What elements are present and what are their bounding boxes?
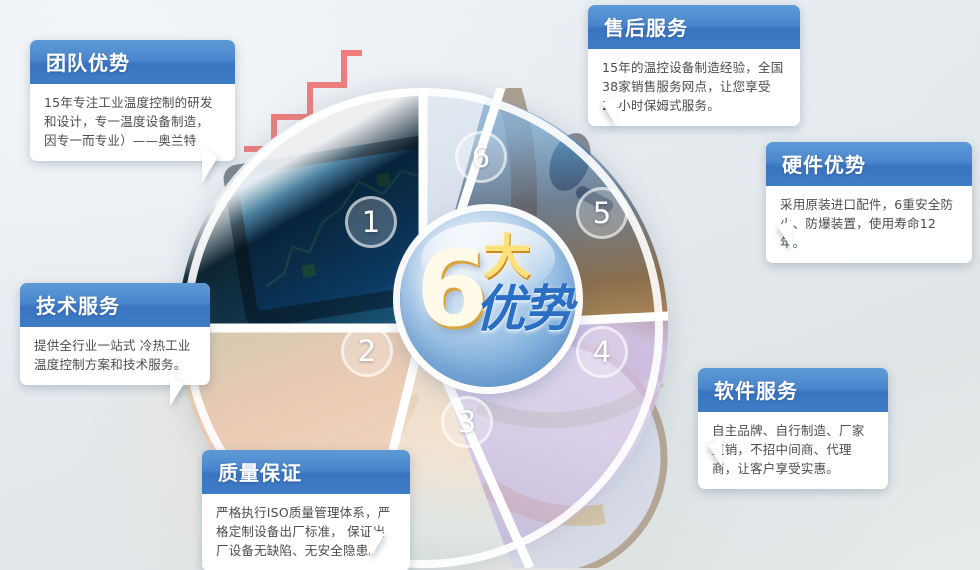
- card-team-advantage-pointer: [202, 147, 218, 183]
- card-tech-service-title: 技术服务: [20, 283, 210, 327]
- card-team-advantage[interactable]: 团队优势 15年专注工业温度控制的研发和设计，专一温度设备制造，因专一而专业）—…: [30, 40, 235, 161]
- card-hardware-advantage-pointer: [778, 220, 792, 249]
- card-tech-service-pointer: [170, 376, 184, 406]
- card-quality-guarantee-pointer: [370, 528, 385, 558]
- card-quality-guarantee-title: 质量保证: [202, 450, 410, 494]
- card-quality-guarantee[interactable]: 质量保证 严格执行ISO质量管理体系，严格定制设备出厂标准， 保证出厂设备无缺陷…: [202, 450, 410, 570]
- card-software-service-title: 软件服务: [698, 368, 888, 412]
- center-unit: 大: [483, 233, 531, 281]
- card-after-sales-service-pointer: [602, 95, 617, 127]
- center-badge: 6 大 优势: [400, 211, 576, 387]
- card-hardware-advantage[interactable]: 硬件优势 采用原装进口配件，6重安全防火、防爆装置，使用寿命12年。: [766, 142, 972, 263]
- card-software-service-body: 自主品牌、自行制造、厂家直销，不招中间商、代理商，让客户享受实惠。: [698, 412, 888, 489]
- bullet-2[interactable]: 2: [341, 325, 393, 377]
- bullet-3[interactable]: 3: [441, 396, 493, 448]
- card-team-advantage-title: 团队优势: [30, 40, 235, 84]
- infographic-canvas: 6 大 优势 1 2 3 4 5 6 团队优势 15年专注工业温度控制的研发和设…: [0, 0, 980, 570]
- card-after-sales-service-body: 15年的温控设备制造经验，全国38家销售服务网点，让您享受24小时保姆式服务。: [588, 49, 800, 126]
- card-software-service[interactable]: 软件服务 自主品牌、自行制造、厂家直销，不招中间商、代理商，让客户享受实惠。: [698, 368, 888, 489]
- card-after-sales-service[interactable]: 售后服务 15年的温控设备制造经验，全国38家销售服务网点，让您享受24小时保姆…: [588, 5, 800, 126]
- center-word: 优势: [475, 283, 571, 335]
- card-after-sales-service-title: 售后服务: [588, 5, 800, 49]
- bullet-5[interactable]: 5: [576, 187, 628, 239]
- card-hardware-advantage-title: 硬件优势: [766, 142, 972, 186]
- bullet-1[interactable]: 1: [345, 196, 397, 248]
- bullet-6[interactable]: 6: [455, 131, 507, 183]
- card-tech-service[interactable]: 技术服务 提供全行业一站式 冷热工业温度控制方案和技术服务。: [20, 283, 210, 385]
- card-hardware-advantage-body: 采用原装进口配件，6重安全防火、防爆装置，使用寿命12年。: [766, 186, 972, 263]
- bullet-4[interactable]: 4: [576, 326, 628, 378]
- card-software-service-pointer: [708, 438, 722, 467]
